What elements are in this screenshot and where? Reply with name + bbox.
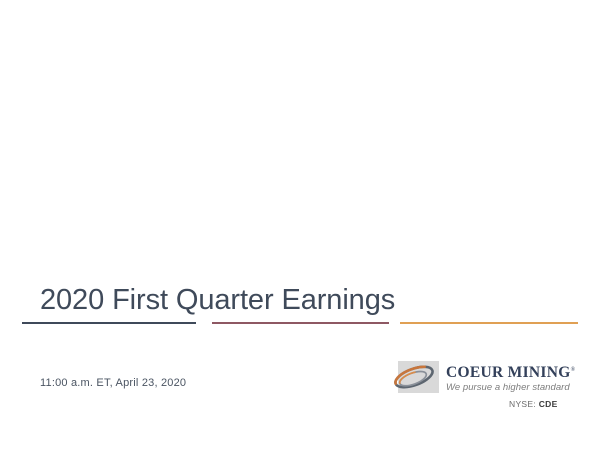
event-datetime: 11:00 a.m. ET, April 23, 2020	[40, 377, 186, 389]
logo-tagline: We pursue a higher standard	[446, 382, 575, 394]
coeur-swoosh-icon	[398, 361, 439, 393]
page-title: 2020 First Quarter Earnings	[40, 283, 560, 317]
accent-rule-segment-navy	[22, 322, 196, 324]
accent-rule-segment-maroon	[212, 322, 389, 324]
accent-rule	[0, 322, 600, 325]
ticker-exchange-label: NYSE:	[509, 399, 536, 409]
logo-wordmark-text: COEUR MINING	[446, 364, 571, 381]
logo-wordmark: COEUR MINING®	[446, 362, 575, 381]
ticker-symbol: CDE	[539, 399, 558, 409]
logo-text-block: COEUR MINING® We pursue a higher standar…	[446, 361, 575, 394]
coeur-mining-logo: COEUR MINING® We pursue a higher standar…	[398, 361, 575, 394]
title-block: 2020 First Quarter Earnings	[40, 283, 560, 317]
registered-trademark-icon: ®	[571, 367, 576, 373]
title-slide: 2020 First Quarter Earnings 11:00 a.m. E…	[0, 0, 600, 464]
accent-rule-segment-orange	[400, 322, 578, 324]
stock-ticker: NYSE: CDE	[509, 399, 558, 409]
